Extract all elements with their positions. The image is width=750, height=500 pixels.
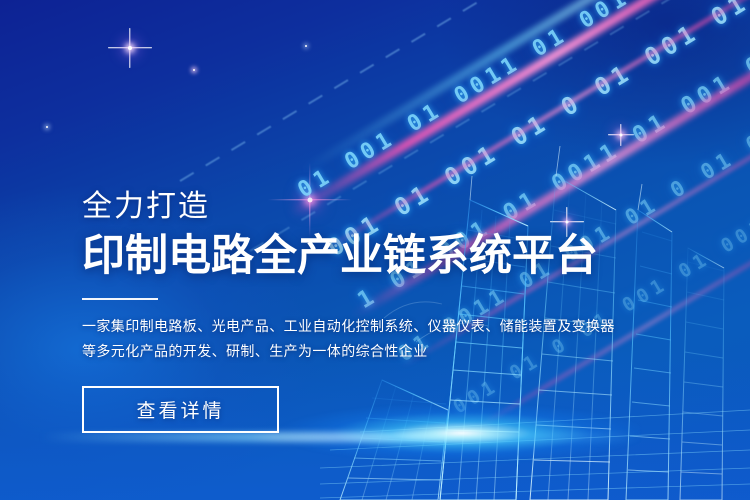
- hero-eyebrow: 全力打造: [82, 188, 642, 226]
- hero-description-line-1: 一家集印制电路板、光电产品、工业自动化控制系统、仪器仪表、储能装置及变换器: [82, 314, 642, 339]
- hero-banner: 01 001 01 0011 01 001 01 0 001 01 001 01…: [0, 0, 750, 500]
- hero-description-line-2: 等多元化产品的开发、研制、生产为一体的综合性企业: [82, 339, 642, 364]
- view-details-button[interactable]: 查看详情: [82, 386, 279, 433]
- divider-line: [82, 298, 158, 300]
- hero-description: 一家集印制电路板、光电产品、工业自动化控制系统、仪器仪表、储能装置及变换器 等多…: [82, 314, 642, 364]
- hero-content: 全力打造 印制电路全产业链系统平台 一家集印制电路板、光电产品、工业自动化控制系…: [82, 188, 642, 433]
- hero-headline: 印制电路全产业链系统平台: [82, 232, 642, 280]
